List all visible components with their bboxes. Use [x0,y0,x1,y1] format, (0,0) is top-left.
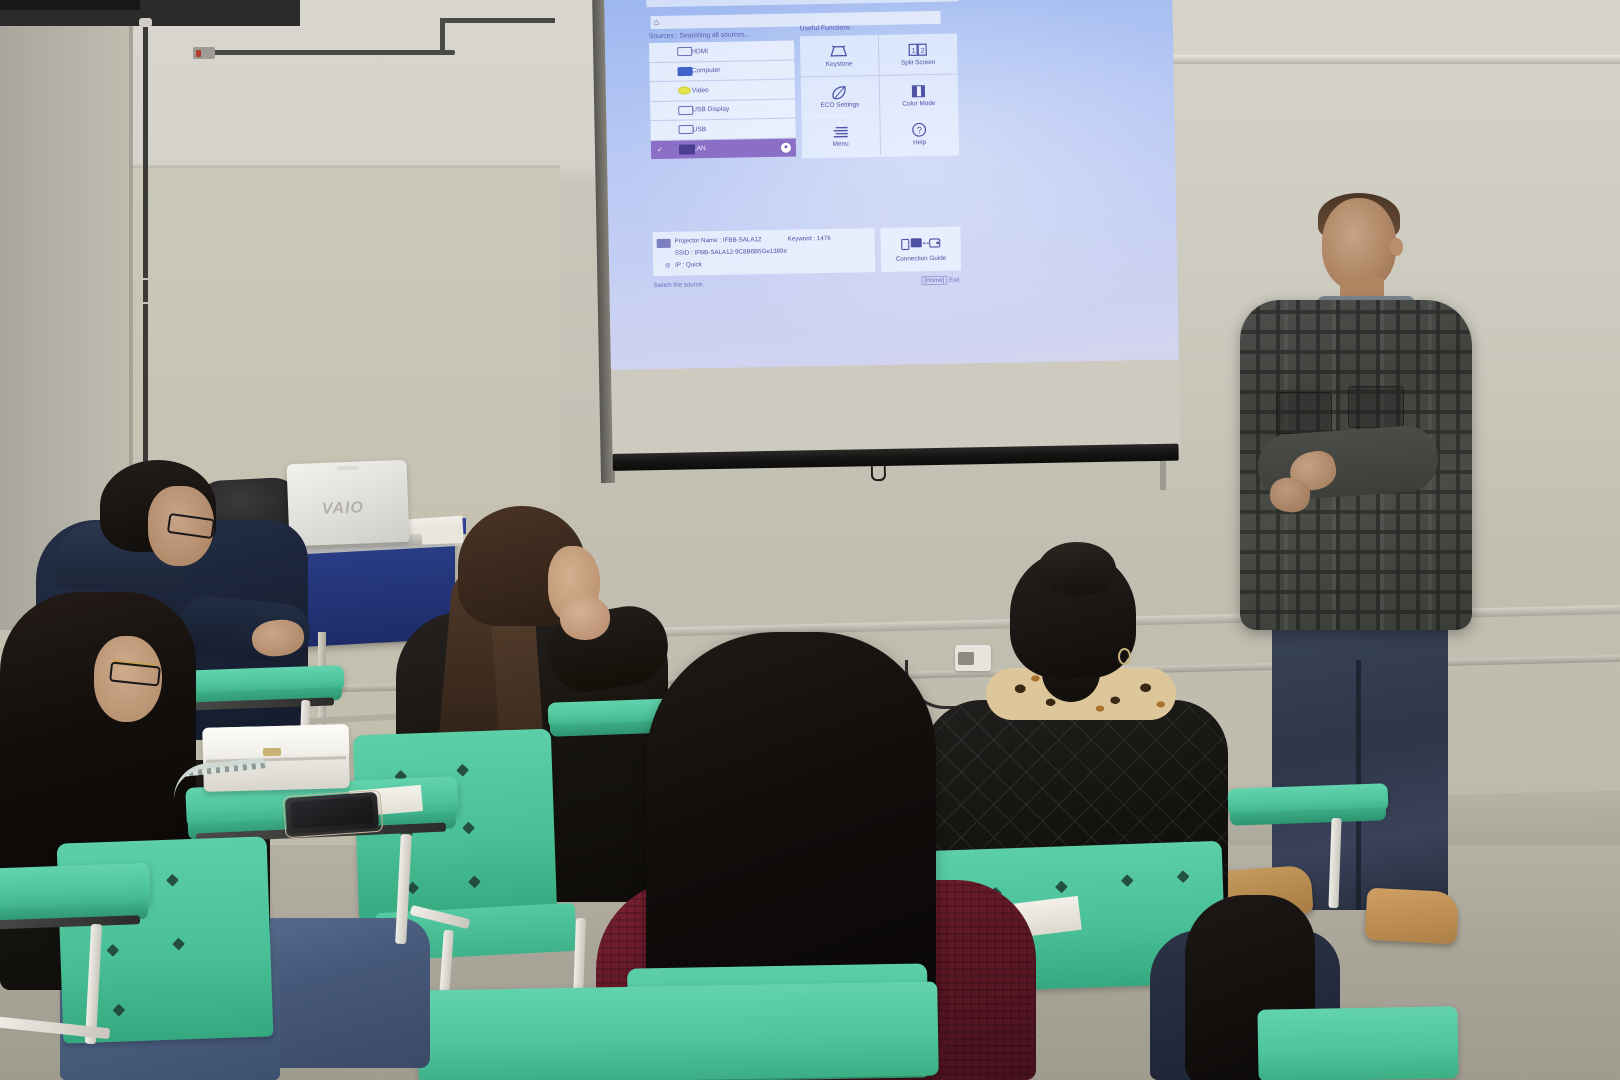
home-key-label: [Home] [921,276,947,285]
chair-vent [462,822,475,835]
connection-guide-button[interactable]: Connection Guide [880,227,961,272]
lunchbox-clasp [263,748,281,756]
useful-functions-grid-top[interactable]: Keystone 12 Split Screen ECO Settings [800,34,958,118]
function-label: Menu [833,141,849,148]
source-item-video[interactable]: Video [650,80,795,102]
exit-label: Exit [949,277,959,284]
source-label: Video [692,87,709,94]
function-eco-settings[interactable]: ECO Settings [801,76,880,117]
student-hair-bun [1038,542,1116,596]
chair-vent [166,874,179,887]
source-item-computer[interactable]: Computer [649,60,794,82]
projection-screen: EPSON ⌂ Sources : Searching all sources.… [604,0,1183,490]
status-hint: Switch the source. [653,281,704,289]
status-exit[interactable]: [Home] Exit [921,277,959,285]
projector-name-row: Projector Name : IFBB-SALA12 [675,236,762,245]
eco-leaf-icon [832,85,847,100]
conduit-pipe-elbow [440,20,445,55]
function-help[interactable]: ? Help [880,114,959,155]
sprinkler-bulb [196,50,201,57]
screen-pull-hook[interactable] [871,465,886,481]
projector-info-panel: Projector Name : IFBB-SALA12 Keyword : 1… [652,228,875,276]
function-menu[interactable]: Menu [801,115,880,156]
projector-name-label: Projector Name : [675,237,722,245]
ui-top-bar: EPSON [646,0,958,7]
function-label: Split Screen [901,59,936,67]
source-selected-badge: ● [781,142,791,152]
chair-vent [1055,881,1068,894]
svg-text:2: 2 [921,48,925,55]
sources-label: Sources : Searching all sources... [649,31,750,40]
usb-display-icon [678,106,693,115]
sources-list[interactable]: HDMI Computer Video USB Display USB [649,41,796,160]
ssid-row: SSID : IFBB-SALA12-9C8B6B5Ge1389e [675,248,787,257]
ssid-label: SSID : [675,249,693,256]
source-label: Computer [691,67,720,75]
keyword-row: Keyword : 1476 [788,235,831,243]
chair-vent [1177,870,1190,883]
source-label: USB [693,126,707,133]
useful-functions-label: Useful Functions : [800,24,855,32]
source-item-lan[interactable]: ✓ LAN ● [651,138,796,159]
laptop-brand-logo: VAIO [322,499,365,519]
chair-vent [456,764,469,777]
foreground-desk [417,981,939,1080]
chair-vent [106,944,119,957]
conduit-cap [139,18,152,27]
keyword-value: 1476 [817,235,831,242]
checkmark-icon: ✓ [657,146,663,154]
function-color-mode[interactable]: Color Mode [879,75,958,116]
status-bar: Switch the source. [Home] Exit [653,277,961,283]
split-screen-icon: 12 [908,42,927,57]
chair-vent [113,1004,126,1017]
connection-guide-icon [901,236,941,252]
presenter-ear [1390,238,1403,256]
earring [1118,648,1131,665]
epson-home-screen[interactable]: EPSON ⌂ Sources : Searching all sources.… [646,0,964,345]
home-icon[interactable]: ⌂ [654,18,663,27]
hdmi-port-icon [677,47,692,56]
outlet-plug [958,652,974,665]
wifi-icon: ◎ [665,262,670,269]
projector-device-icon [657,239,671,248]
connection-guide-label: Connection Guide [896,255,947,263]
color-mode-icon [911,83,926,98]
menu-lines-icon [832,124,849,139]
function-label: Color Mode [902,100,935,108]
svg-text:1: 1 [912,48,916,55]
useful-functions-grid-bottom[interactable]: Menu ? Help [801,114,959,159]
conduit-pipe [210,50,455,55]
presenter-shirt-pocket [1276,392,1332,434]
ssid-value: IFBB-SALA12-9C8B6B5Ge1389e [694,248,787,257]
projector-name-value: IFBB-SALA12 [723,236,762,244]
source-label: HDMI [691,48,708,55]
ip-label: IP : [675,262,684,269]
presenter-head [1322,198,1396,290]
source-item-usb[interactable]: USB [650,119,795,141]
function-keystone[interactable]: Keystone [800,35,879,77]
conduit-pipe-elbow-top [440,18,555,23]
ip-value: Quick [686,261,702,268]
source-item-hdmi[interactable]: HDMI [649,41,794,63]
foreground-desk-right [1257,1006,1458,1080]
student-hand [560,596,610,640]
ui-home-bar [651,11,941,29]
help-question-icon: ? [912,122,927,137]
classroom-scene: EPSON ⌂ Sources : Searching all sources.… [0,0,1620,1080]
smartphone-case [283,790,384,839]
ceiling-shadow [0,0,140,10]
rca-video-icon [678,87,691,95]
source-label: USB Display [692,106,729,114]
chair-vent [468,875,481,888]
keystone-icon [830,44,847,59]
conduit-clip [139,278,154,304]
function-label: Keystone [826,60,853,67]
presenter-shirt-pocket [1348,386,1404,428]
function-label: ECO Settings [821,101,860,109]
ip-row: IP : Quick [675,261,702,268]
presenter-boot [1365,888,1460,945]
whiteboard-rail [1168,55,1620,64]
chair-vent [1121,874,1134,887]
lan-network-icon [679,144,695,154]
usb-icon [679,125,694,134]
function-split-screen[interactable]: 12 Split Screen [878,34,957,76]
keyword-label: Keyword : [788,235,816,243]
chair-vent [172,938,185,951]
vga-port-icon [677,67,692,76]
source-item-usb-display[interactable]: USB Display [650,99,795,121]
function-label: Help [913,139,926,146]
laptop-hinge [337,466,359,471]
svg-text:?: ? [917,125,922,135]
